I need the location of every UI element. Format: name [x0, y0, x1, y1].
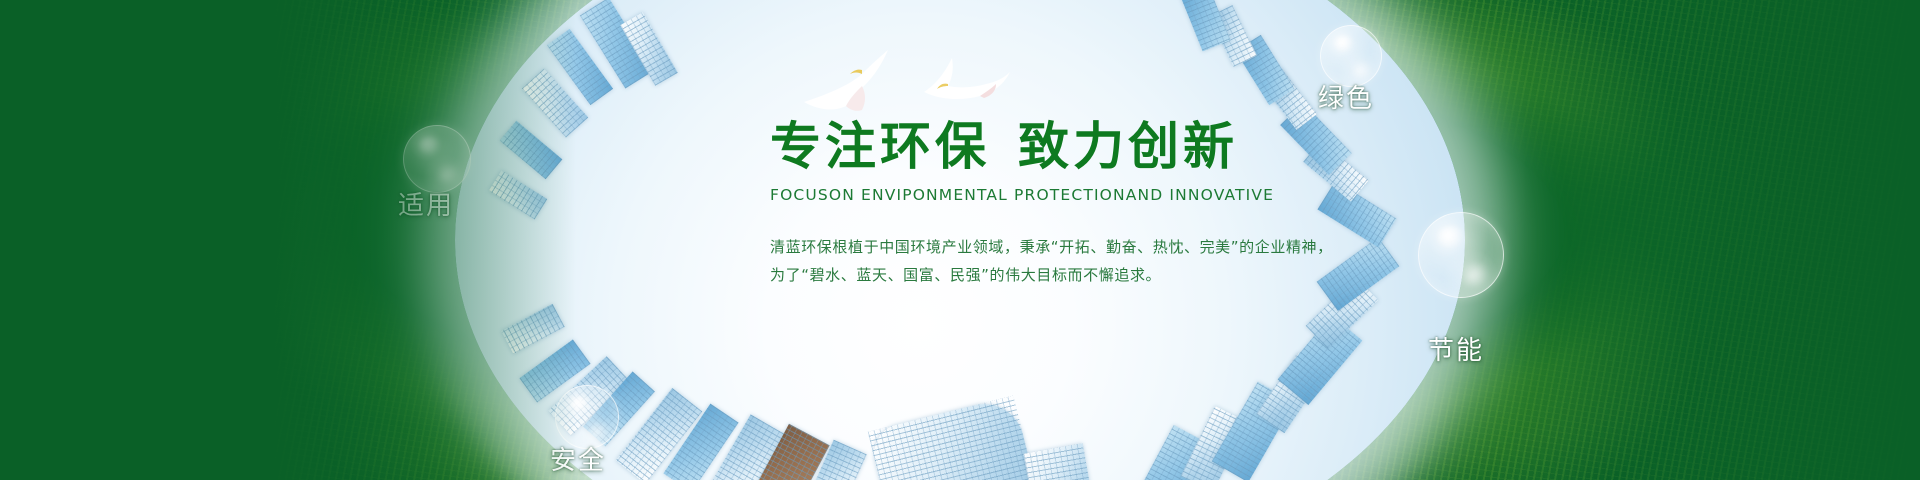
eco-hero-banner: 适用 安全 绿色 节能 专注环保致力创新 FOCUSON ENVIPONMENT…	[0, 0, 1920, 480]
right-edge-vignette	[0, 0, 1920, 480]
